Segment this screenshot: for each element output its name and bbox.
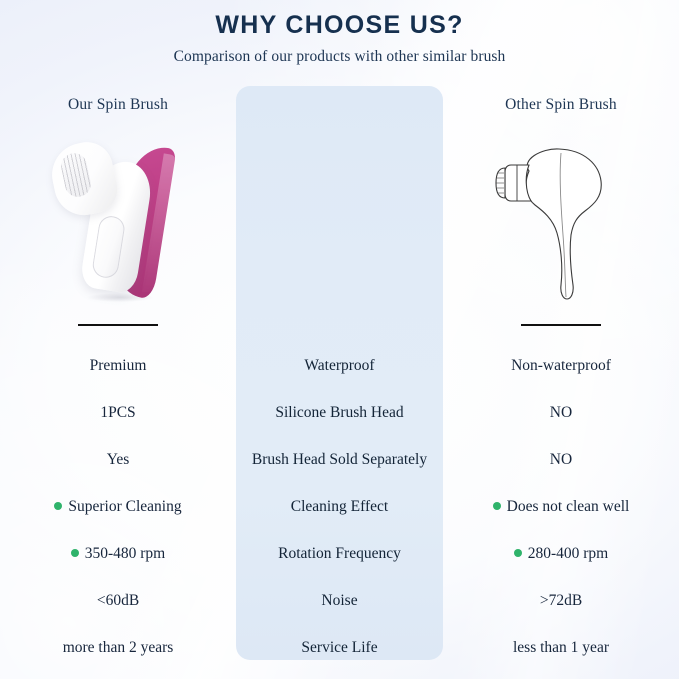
spin-brush-outline-icon xyxy=(481,135,641,310)
value-text: <60dB xyxy=(97,591,139,610)
page-title: WHY CHOOSE US? xyxy=(0,10,679,40)
value-text: NO xyxy=(550,403,572,422)
list-item: Yes xyxy=(0,436,236,483)
header: WHY CHOOSE US? Comparison of our product… xyxy=(0,10,679,68)
value-text: 1PCS xyxy=(100,403,135,422)
column-divider-left xyxy=(78,324,158,326)
value-text: NO xyxy=(550,450,572,469)
list-item: less than 1 year xyxy=(443,624,679,671)
list-item: 1PCS xyxy=(0,389,236,436)
value-text: 280-400 rpm xyxy=(528,544,609,563)
list-item: Service Life xyxy=(236,624,443,671)
column-header-our: Our Spin Brush xyxy=(0,96,236,114)
list-item: Cleaning Effect xyxy=(236,483,443,530)
value-text: Yes xyxy=(107,450,130,469)
list-item: Rotation Frequency xyxy=(236,530,443,577)
feature-text: Waterproof xyxy=(304,356,374,375)
green-bullet-icon xyxy=(71,549,79,557)
values-list-other: Non-waterproof NO NO Does not clean well… xyxy=(443,342,679,671)
feature-text: Cleaning Effect xyxy=(291,497,388,516)
column-header-other: Other Spin Brush xyxy=(443,96,679,114)
list-item: <60dB xyxy=(0,577,236,624)
list-item: Non-waterproof xyxy=(443,342,679,389)
list-item: >72dB xyxy=(443,577,679,624)
feature-text: Rotation Frequency xyxy=(278,544,401,563)
list-item: Brush Head Sold Separately xyxy=(236,436,443,483)
green-bullet-icon xyxy=(54,502,62,510)
list-item: Noise xyxy=(236,577,443,624)
list-item: 280-400 rpm xyxy=(443,530,679,577)
value-text: more than 2 years xyxy=(63,638,174,657)
comparison-columns: Our Spin Brush Premium 1PCS xyxy=(0,0,679,679)
list-item: Waterproof xyxy=(236,342,443,389)
value-text: 350-480 rpm xyxy=(85,544,166,563)
value-text: less than 1 year xyxy=(513,638,609,657)
comparison-infographic: WHY CHOOSE US? Comparison of our product… xyxy=(0,0,679,679)
list-item: Superior Cleaning xyxy=(0,483,236,530)
green-bullet-icon xyxy=(514,549,522,557)
value-text: Non-waterproof xyxy=(511,356,611,375)
list-item: NO xyxy=(443,436,679,483)
value-text: >72dB xyxy=(540,591,582,610)
value-text: Superior Cleaning xyxy=(68,497,181,516)
list-item: NO xyxy=(443,389,679,436)
value-text: Does not clean well xyxy=(507,497,630,516)
features-list: Waterproof Silicone Brush Head Brush Hea… xyxy=(236,342,443,671)
list-item: Premium xyxy=(0,342,236,389)
values-list-our: Premium 1PCS Yes Superior Cleaning 350-4… xyxy=(0,342,236,671)
product-image-other xyxy=(443,132,679,312)
green-bullet-icon xyxy=(493,502,501,510)
page-subtitle: Comparison of our products with other si… xyxy=(0,46,679,68)
list-item: 350-480 rpm xyxy=(0,530,236,577)
feature-text: Noise xyxy=(321,591,357,610)
column-divider-right xyxy=(521,324,601,326)
list-item: Does not clean well xyxy=(443,483,679,530)
list-item: Silicone Brush Head xyxy=(236,389,443,436)
value-text: Premium xyxy=(90,356,147,375)
column-features: Waterproof Silicone Brush Head Brush Hea… xyxy=(236,0,443,679)
product-image-our xyxy=(0,132,236,312)
column-our-product: Our Spin Brush Premium 1PCS xyxy=(0,0,236,679)
feature-text: Service Life xyxy=(301,638,377,657)
feature-text: Brush Head Sold Separately xyxy=(252,451,427,469)
list-item: more than 2 years xyxy=(0,624,236,671)
feature-text: Silicone Brush Head xyxy=(275,403,403,422)
column-other-product: Other Spin Brush xyxy=(443,0,679,679)
spin-brush-pink-icon xyxy=(43,135,193,310)
